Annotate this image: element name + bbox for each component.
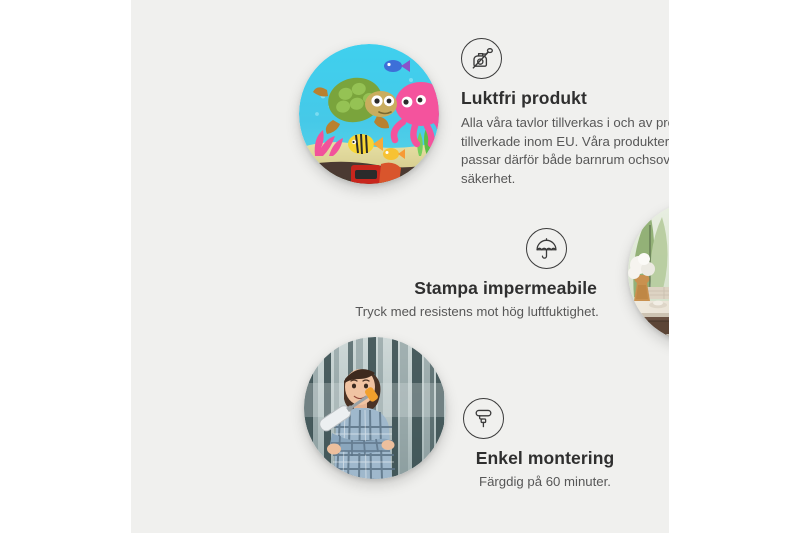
photo-aquarium-inner (299, 44, 439, 184)
product-photo-bathroom (628, 201, 669, 343)
feature-title: Enkel montering (447, 448, 643, 469)
product-feature-banner: Luktfri produkt Alla våra tavlor tillver… (0, 0, 800, 533)
photo-painter-inner (304, 337, 446, 479)
content-panel: Luktfri produkt Alla våra tavlor tillver… (131, 0, 669, 533)
umbrella-icon (526, 228, 567, 269)
bathroom-illustration (628, 201, 669, 343)
paint-roller-glyph (471, 406, 496, 431)
feature-title: Luktfri produkt (461, 88, 669, 109)
product-photo-aquarium (299, 44, 439, 184)
feature-title: Stampa impermeabile (345, 278, 609, 299)
feature-body: Färgdig på 60 minuter. (447, 473, 643, 492)
feature-waterproof: Stampa impermeabile Tryck med resistens … (345, 228, 609, 322)
aquarium-illustration (299, 44, 439, 184)
feature-body: Tryck med resistens mot hög luftfuktighe… (345, 303, 609, 322)
no-fragrance-icon (461, 38, 502, 79)
feature-easy-mounting: Enkel montering Färgdig på 60 minuter. (447, 398, 643, 492)
photo-bathroom-inner (628, 201, 669, 343)
painter-illustration (304, 337, 446, 479)
paint-roller-icon (463, 398, 504, 439)
feature-body: Alla våra tavlor tillverkas i och av pro… (461, 114, 669, 189)
product-photo-painter (304, 337, 446, 479)
no-fragrance-glyph (469, 46, 495, 72)
feature-odourless: Luktfri produkt Alla våra tavlor tillver… (461, 38, 669, 189)
umbrella-glyph (534, 236, 559, 261)
